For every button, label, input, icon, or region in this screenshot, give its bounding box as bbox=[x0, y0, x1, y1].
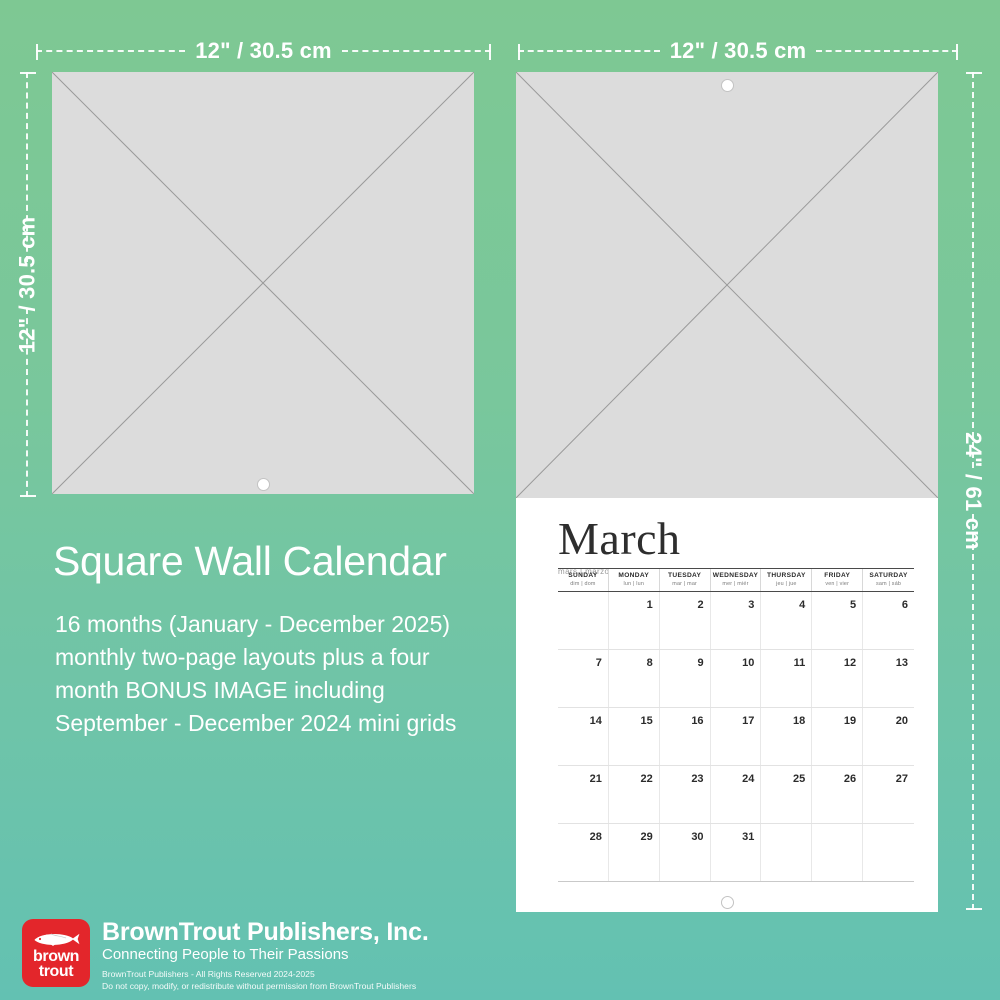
product-description: 16 months (January - December 2025) mont… bbox=[55, 608, 515, 740]
weekday-name-translated: jeu | jue bbox=[761, 581, 811, 587]
copyright-line-1: BrownTrout Publishers - All Rights Reser… bbox=[102, 969, 429, 980]
calendar-day-cell[interactable]: 15 bbox=[609, 708, 660, 765]
calendar-day-cell[interactable]: 7 bbox=[558, 650, 609, 707]
calendar-weekday-header: SUNDAYdim | dom bbox=[558, 569, 609, 591]
ruler-line-right bbox=[342, 50, 491, 52]
calendar-day-cell[interactable]: 24 bbox=[711, 766, 762, 823]
weekday-name-translated: sam | sáb bbox=[863, 581, 914, 587]
calendar-day-cell[interactable]: 28 bbox=[558, 824, 609, 881]
calendar-weekday-header-row: SUNDAYdim | domMONDAYlun | lunTUESDAYmar… bbox=[558, 569, 914, 592]
calendar-day-number: 21 bbox=[590, 773, 602, 785]
copyright-notice: BrownTrout Publishers - All Rights Reser… bbox=[102, 969, 429, 992]
ruler-line-left bbox=[36, 50, 185, 52]
calendar-day-cell[interactable]: 21 bbox=[558, 766, 609, 823]
calendar-day-cell[interactable]: 30 bbox=[660, 824, 711, 881]
calendar-day-number: 3 bbox=[748, 599, 754, 611]
weekday-name-translated: dim | dom bbox=[558, 581, 608, 587]
logo-text-brown: brown bbox=[33, 949, 79, 964]
grommet-hole-calendar-bottom bbox=[721, 896, 734, 909]
weekday-name-translated: mer | miér bbox=[711, 581, 761, 587]
footer-branding: brown trout BrownTrout Publishers, Inc. … bbox=[22, 919, 429, 992]
calendar-day-cell[interactable] bbox=[812, 824, 863, 881]
weekday-name: THURSDAY bbox=[761, 572, 811, 579]
ruler-line-left bbox=[518, 50, 660, 52]
calendar-day-cell[interactable]: 16 bbox=[660, 708, 711, 765]
calendar-day-cell[interactable]: 5 bbox=[812, 592, 863, 649]
calendar-week-row: 14151617181920 bbox=[558, 708, 914, 766]
weekday-name: TUESDAY bbox=[660, 572, 710, 579]
calendar-week-rows: 1234567891011121314151617181920212223242… bbox=[558, 592, 914, 882]
calendar-day-cell[interactable]: 13 bbox=[863, 650, 914, 707]
calendar-day-cell[interactable]: 14 bbox=[558, 708, 609, 765]
calendar-day-number: 4 bbox=[799, 599, 805, 611]
calendar-day-number: 24 bbox=[742, 773, 754, 785]
calendar-day-number: 17 bbox=[742, 715, 754, 727]
calendar-day-number: 29 bbox=[640, 831, 652, 843]
calendar-day-number: 28 bbox=[590, 831, 602, 843]
calendar-day-number: 19 bbox=[844, 715, 856, 727]
calendar-day-cell[interactable]: 23 bbox=[660, 766, 711, 823]
calendar-month-title: March bbox=[558, 516, 681, 562]
calendar-day-cell[interactable]: 2 bbox=[660, 592, 711, 649]
calendar-day-number: 14 bbox=[590, 715, 602, 727]
weekday-name: FRIDAY bbox=[812, 572, 862, 579]
calendar-day-number: 30 bbox=[691, 831, 703, 843]
calendar-day-number: 9 bbox=[697, 657, 703, 669]
product-panel-right bbox=[516, 72, 938, 498]
calendar-day-cell[interactable]: 31 bbox=[711, 824, 762, 881]
calendar-day-number: 1 bbox=[647, 599, 653, 611]
calendar-day-number: 11 bbox=[794, 657, 806, 669]
calendar-day-cell[interactable]: 27 bbox=[863, 766, 914, 823]
calendar-day-number: 20 bbox=[896, 715, 908, 727]
description-line: month BONUS IMAGE including bbox=[55, 674, 515, 707]
calendar-day-number: 8 bbox=[647, 657, 653, 669]
logo-text-trout: trout bbox=[39, 964, 73, 979]
calendar-week-row: 123456 bbox=[558, 592, 914, 650]
calendar-day-number: 27 bbox=[896, 773, 908, 785]
calendar-day-number: 15 bbox=[640, 715, 652, 727]
calendar-day-cell[interactable]: 20 bbox=[863, 708, 914, 765]
dimension-label-top-right: 12" / 30.5 cm bbox=[670, 38, 807, 64]
calendar-day-number: 6 bbox=[902, 599, 908, 611]
calendar-day-cell[interactable]: 8 bbox=[609, 650, 660, 707]
calendar-weekday-header: MONDAYlun | lun bbox=[609, 569, 660, 591]
weekday-name-translated: mar | mar bbox=[660, 581, 710, 587]
calendar-day-cell[interactable]: 25 bbox=[761, 766, 812, 823]
weekday-name-translated: lun | lun bbox=[609, 581, 659, 587]
calendar-day-number: 13 bbox=[896, 657, 908, 669]
ruler-line-top bbox=[972, 72, 974, 468]
calendar-day-cell[interactable]: 9 bbox=[660, 650, 711, 707]
description-line: monthly two-page layouts plus a four bbox=[55, 641, 515, 674]
calendar-day-number: 2 bbox=[697, 599, 703, 611]
dimension-ruler-left: 12" / 30.5 cm bbox=[14, 72, 40, 497]
dimension-ruler-right: 24" / 61 cm bbox=[960, 72, 986, 910]
dimension-label-top-left: 12" / 30.5 cm bbox=[195, 38, 332, 64]
weekday-name: SATURDAY bbox=[863, 572, 914, 579]
calendar-day-cell[interactable]: 29 bbox=[609, 824, 660, 881]
calendar-day-number: 16 bbox=[691, 715, 703, 727]
calendar-day-cell[interactable]: 11 bbox=[761, 650, 812, 707]
calendar-day-number: 10 bbox=[742, 657, 754, 669]
publisher-name: BrownTrout Publishers, Inc. bbox=[102, 919, 429, 945]
calendar-day-cell[interactable] bbox=[863, 824, 914, 881]
calendar-week-row: 78910111213 bbox=[558, 650, 914, 708]
calendar-day-cell[interactable]: 18 bbox=[761, 708, 812, 765]
calendar-weekday-header: WEDNESDAYmer | miér bbox=[711, 569, 762, 591]
placeholder-cross-icon bbox=[52, 72, 474, 494]
calendar-day-cell[interactable] bbox=[558, 592, 609, 649]
calendar-day-number: 12 bbox=[844, 657, 856, 669]
calendar-day-number: 31 bbox=[742, 831, 754, 843]
calendar-day-cell[interactable]: 4 bbox=[761, 592, 812, 649]
calendar-week-row: 28293031 bbox=[558, 824, 914, 882]
calendar-day-cell[interactable]: 1 bbox=[609, 592, 660, 649]
description-line: September - December 2024 mini grids bbox=[55, 707, 515, 740]
calendar-day-number: 25 bbox=[793, 773, 805, 785]
calendar-day-cell[interactable]: 12 bbox=[812, 650, 863, 707]
calendar-month-block: March mars | marzo bbox=[558, 516, 681, 576]
calendar-day-number: 23 bbox=[691, 773, 703, 785]
calendar-day-cell[interactable] bbox=[761, 824, 812, 881]
calendar-weekday-header: TUESDAYmar | mar bbox=[660, 569, 711, 591]
weekday-name: SUNDAY bbox=[558, 572, 608, 579]
calendar-day-cell[interactable]: 19 bbox=[812, 708, 863, 765]
calendar-day-number: 18 bbox=[793, 715, 805, 727]
ruler-line-bottom bbox=[972, 514, 974, 910]
copyright-line-2: Do not copy, modify, or redistribute wit… bbox=[102, 981, 429, 992]
calendar-page: March mars | marzo SUNDAYdim | domMONDAY… bbox=[516, 498, 938, 912]
dimension-ruler-top-right: 12" / 30.5 cm bbox=[518, 40, 958, 62]
dimension-ruler-top-left: 12" / 30.5 cm bbox=[36, 40, 491, 62]
footer-text-block: BrownTrout Publishers, Inc. Connecting P… bbox=[102, 919, 429, 992]
calendar-day-cell[interactable]: 22 bbox=[609, 766, 660, 823]
ruler-line-right bbox=[816, 50, 958, 52]
calendar-day-number: 22 bbox=[640, 773, 652, 785]
calendar-day-number: 5 bbox=[850, 599, 856, 611]
calendar-day-cell[interactable]: 6 bbox=[863, 592, 914, 649]
calendar-day-cell[interactable]: 10 bbox=[711, 650, 762, 707]
calendar-day-number: 26 bbox=[844, 773, 856, 785]
calendar-day-number: 7 bbox=[596, 657, 602, 669]
weekday-name: MONDAY bbox=[609, 572, 659, 579]
weekday-name: WEDNESDAY bbox=[711, 572, 761, 579]
grommet-hole-left-panel bbox=[257, 478, 270, 491]
calendar-grid: SUNDAYdim | domMONDAYlun | lunTUESDAYmar… bbox=[558, 568, 914, 882]
calendar-day-cell[interactable]: 17 bbox=[711, 708, 762, 765]
calendar-day-cell[interactable]: 26 bbox=[812, 766, 863, 823]
calendar-weekday-header: FRIDAYven | vier bbox=[812, 569, 863, 591]
weekday-name-translated: ven | vier bbox=[812, 581, 862, 587]
calendar-day-cell[interactable]: 3 bbox=[711, 592, 762, 649]
trout-fish-icon bbox=[31, 929, 81, 949]
description-line: 16 months (January - December 2025) bbox=[55, 608, 515, 641]
page-title: Square Wall Calendar bbox=[53, 538, 447, 585]
calendar-weekday-header: SATURDAYsam | sáb bbox=[863, 569, 914, 591]
browntrout-logo: brown trout bbox=[22, 919, 90, 987]
publisher-tagline: Connecting People to Their Passions bbox=[102, 946, 429, 963]
product-panel-left bbox=[52, 72, 474, 494]
grommet-hole-right-panel-top bbox=[721, 79, 734, 92]
ruler-line-bottom bbox=[26, 308, 28, 498]
placeholder-cross-icon bbox=[516, 72, 938, 498]
calendar-week-row: 21222324252627 bbox=[558, 766, 914, 824]
calendar-weekday-header: THURSDAYjeu | jue bbox=[761, 569, 812, 591]
